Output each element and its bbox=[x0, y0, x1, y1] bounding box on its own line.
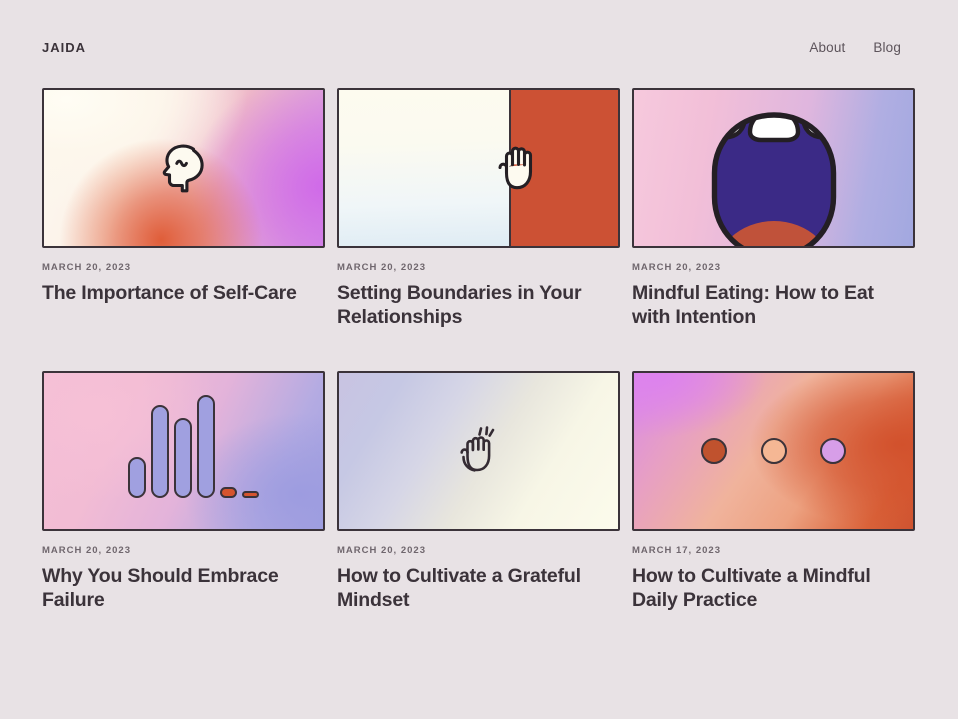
post-title[interactable]: Why You Should Embrace Failure bbox=[42, 564, 322, 612]
post-card-boundaries[interactable]: MARCH 20, 2023 Setting Boundaries in You… bbox=[337, 88, 620, 329]
post-date: MARCH 20, 2023 bbox=[42, 545, 325, 556]
post-grid: MARCH 20, 2023 The Importance of Self-Ca… bbox=[0, 88, 958, 612]
post-date: MARCH 20, 2023 bbox=[337, 545, 620, 556]
three-circles-icon bbox=[634, 373, 913, 529]
circle-swatch-2 bbox=[761, 438, 787, 464]
head-profile-icon bbox=[44, 90, 323, 246]
post-thumbnail-embrace-failure[interactable] bbox=[42, 371, 325, 531]
post-card-self-care[interactable]: MARCH 20, 2023 The Importance of Self-Ca… bbox=[42, 88, 325, 329]
post-date: MARCH 20, 2023 bbox=[42, 262, 325, 273]
post-card-mindful-eating[interactable]: MARCH 20, 2023 Mindful Eating: How to Ea… bbox=[632, 88, 915, 329]
site-header: JAIDA About Blog bbox=[0, 0, 958, 62]
nav-link-about[interactable]: About bbox=[809, 40, 845, 55]
post-date: MARCH 17, 2023 bbox=[632, 545, 915, 556]
clapping-hands-icon bbox=[339, 373, 618, 529]
post-title[interactable]: The Importance of Self-Care bbox=[42, 281, 322, 305]
post-title[interactable]: Setting Boundaries in Your Relationships bbox=[337, 281, 617, 329]
post-thumbnail-self-care[interactable] bbox=[42, 88, 325, 248]
brand-logo[interactable]: JAIDA bbox=[42, 40, 86, 55]
chart-bar bbox=[128, 457, 146, 498]
post-thumbnail-mindful-daily-practice[interactable] bbox=[632, 371, 915, 531]
post-card-grateful-mindset[interactable]: MARCH 20, 2023 How to Cultivate a Gratef… bbox=[337, 371, 620, 612]
main-nav: About Blog bbox=[809, 40, 901, 55]
circle-swatch-1 bbox=[701, 438, 727, 464]
chart-bar bbox=[174, 418, 192, 498]
post-thumbnail-mindful-eating[interactable] bbox=[632, 88, 915, 248]
open-mouth-icon bbox=[700, 111, 847, 248]
chart-bar bbox=[151, 405, 169, 498]
circle-swatch-3 bbox=[820, 438, 846, 464]
chart-bar bbox=[242, 491, 259, 498]
raised-hand-icon bbox=[339, 90, 618, 246]
post-title[interactable]: How to Cultivate a Grateful Mindset bbox=[337, 564, 617, 612]
post-card-mindful-daily-practice[interactable]: MARCH 17, 2023 How to Cultivate a Mindfu… bbox=[632, 371, 915, 612]
post-card-embrace-failure[interactable]: MARCH 20, 2023 Why You Should Embrace Fa… bbox=[42, 371, 325, 612]
page-root: JAIDA About Blog MARCH 20, 2023 The Impo… bbox=[0, 0, 958, 719]
bar-chart-icon bbox=[128, 395, 259, 498]
post-thumbnail-boundaries[interactable] bbox=[337, 88, 620, 248]
post-title[interactable]: Mindful Eating: How to Eat with Intentio… bbox=[632, 281, 912, 329]
post-thumbnail-grateful-mindset[interactable] bbox=[337, 371, 620, 531]
chart-bar bbox=[220, 487, 237, 498]
post-title[interactable]: How to Cultivate a Mindful Daily Practic… bbox=[632, 564, 912, 612]
nav-link-blog[interactable]: Blog bbox=[873, 40, 901, 55]
post-date: MARCH 20, 2023 bbox=[632, 262, 915, 273]
chart-bar bbox=[197, 395, 215, 498]
post-date: MARCH 20, 2023 bbox=[337, 262, 620, 273]
